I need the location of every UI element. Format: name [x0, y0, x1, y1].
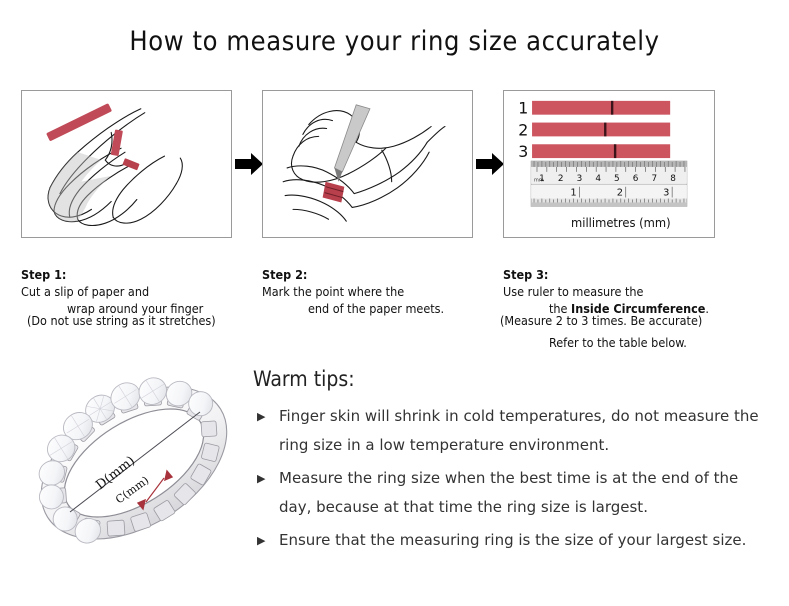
step-3-line1: Use ruler to measure the	[503, 284, 643, 299]
bullet-triangle-icon: ▶	[257, 464, 265, 493]
hand-with-paper-slip-drawing	[22, 91, 231, 237]
inch-tick-3: 3	[663, 188, 669, 199]
strip-label-1: 1	[518, 99, 528, 118]
step-2-line1: Mark the point where the	[262, 284, 404, 299]
cm-tick-2: 2	[558, 174, 564, 184]
step-1-note: (Do not use string as it stretches)	[27, 313, 216, 328]
step-2-illustration-panel	[262, 90, 473, 238]
warm-tips-list: ▶ Finger skin will shrink in cold temper…	[253, 402, 773, 559]
step-3-caption: Step 3: Use ruler to measure the the Ins…	[503, 249, 768, 368]
cm-tick-3: 3	[577, 174, 583, 184]
step-3-line2-post: .	[705, 301, 709, 316]
step-3-note: (Measure 2 to 3 times. Be accurate)	[500, 313, 702, 328]
tip-item: ▶ Measure the ring size when the best ti…	[253, 464, 773, 522]
cm-tick-4: 4	[595, 174, 601, 184]
arrow-step1-to-step2-icon	[234, 150, 264, 178]
hand-marking-paper-drawing	[263, 91, 472, 237]
page-title: How to measure your ring size accurately	[0, 26, 789, 57]
measure-strip-2	[532, 123, 670, 137]
step-1-line1: Cut a slip of paper and	[21, 284, 149, 299]
step-1-illustration-panel	[21, 90, 232, 238]
tip-text: Finger skin will shrink in cold temperat…	[279, 407, 759, 454]
strip-label-2: 2	[518, 120, 528, 139]
tip-text: Ensure that the measuring ring is the si…	[279, 531, 746, 549]
strip-mark-1	[611, 101, 613, 115]
bullet-triangle-icon: ▶	[257, 526, 265, 555]
ring-diagram: D(mm) C(mm)	[18, 352, 250, 574]
step-1-lead: Step 1:	[21, 267, 66, 282]
inch-tick-2: 2	[617, 188, 623, 199]
ruler-unit-mm: mm	[534, 178, 544, 184]
step-3-lead: Step 3:	[503, 267, 548, 282]
ruler-unit-caption: millimetres (mm)	[571, 216, 671, 231]
cm-tick-6: 6	[633, 174, 639, 184]
measure-strip-1	[532, 101, 670, 115]
pen-icon	[334, 105, 370, 182]
strip-mark-2	[604, 123, 606, 137]
step-2-caption: Step 2: Mark the point where the end of …	[262, 249, 492, 334]
cm-tick-7: 7	[652, 174, 658, 184]
arrow-step2-to-step3-icon	[475, 150, 505, 178]
cm-tick-5: 5	[614, 174, 620, 184]
inch-tick-1: 1	[570, 188, 576, 199]
measure-strip-3	[532, 144, 670, 158]
tip-item: ▶ Ensure that the measuring ring is the …	[253, 526, 773, 555]
bullet-triangle-icon: ▶	[257, 402, 265, 431]
ruler-measurement-diagram: 1 2 3 1 2 3 4	[504, 91, 714, 237]
tip-item: ▶ Finger skin will shrink in cold temper…	[253, 402, 773, 460]
tip-text: Measure the ring size when the best time…	[279, 469, 738, 516]
strip-mark-3	[614, 144, 616, 158]
strip-label-3: 3	[518, 142, 528, 161]
paper-band-red	[323, 182, 345, 203]
ruler-graphic: 1 2 3 4 5 6 7 8 mm 1 2 3	[531, 161, 687, 206]
eternity-ring-illustration: D(mm) C(mm)	[18, 352, 250, 574]
warm-tips-heading: Warm tips:	[253, 367, 355, 391]
step-3-ruler-panel: 1 2 3 1 2 3 4	[503, 90, 715, 238]
step-2-lead: Step 2:	[262, 267, 307, 282]
step-3-line3: Refer to the table below.	[503, 334, 768, 351]
cm-tick-8: 8	[670, 174, 676, 184]
step-2-line2: end of the paper meets.	[262, 300, 492, 317]
